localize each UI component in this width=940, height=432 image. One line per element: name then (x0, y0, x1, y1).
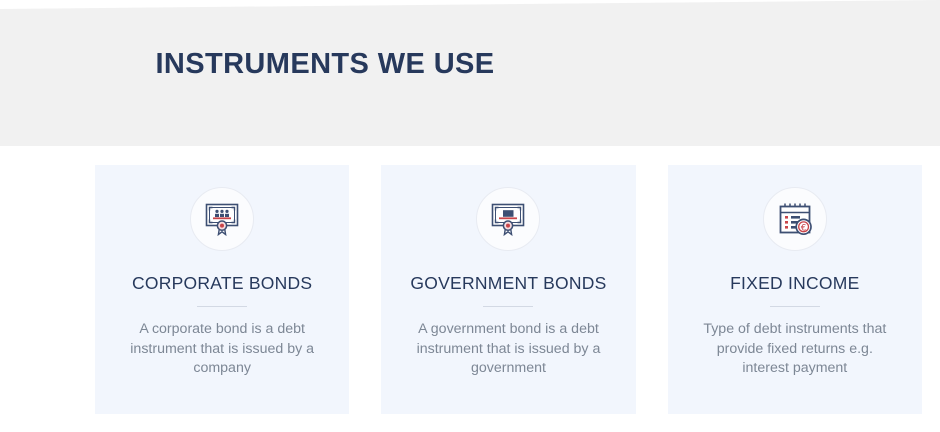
card-divider (770, 306, 820, 307)
instrument-cards-row: CORPORATE BONDS A corporate bond is a de… (95, 165, 922, 414)
svg-text:€: € (801, 222, 806, 232)
card-description: A government bond is a debt instrument t… (406, 320, 611, 379)
instrument-card-government-bonds[interactable]: GOVERNMENT BONDS A government bond is a … (381, 165, 635, 414)
page-title: INSTRUMENTS WE USE (0, 48, 940, 81)
certificate-people-icon (190, 187, 254, 251)
card-description: A corporate bond is a debt instrument th… (120, 320, 325, 379)
card-divider (483, 306, 533, 307)
card-divider (197, 306, 247, 307)
card-description: Type of debt instruments that provide fi… (692, 320, 897, 379)
calendar-euro-icon: € (763, 187, 827, 251)
card-title: GOVERNMENT BONDS (410, 273, 606, 294)
instrument-card-corporate-bonds[interactable]: CORPORATE BONDS A corporate bond is a de… (95, 165, 349, 414)
instrument-card-fixed-income[interactable]: € FIXED INCOME Type of debt instruments … (668, 165, 922, 414)
card-title: CORPORATE BONDS (132, 273, 312, 294)
certificate-flag-icon (476, 187, 540, 251)
card-title: FIXED INCOME (730, 273, 859, 294)
